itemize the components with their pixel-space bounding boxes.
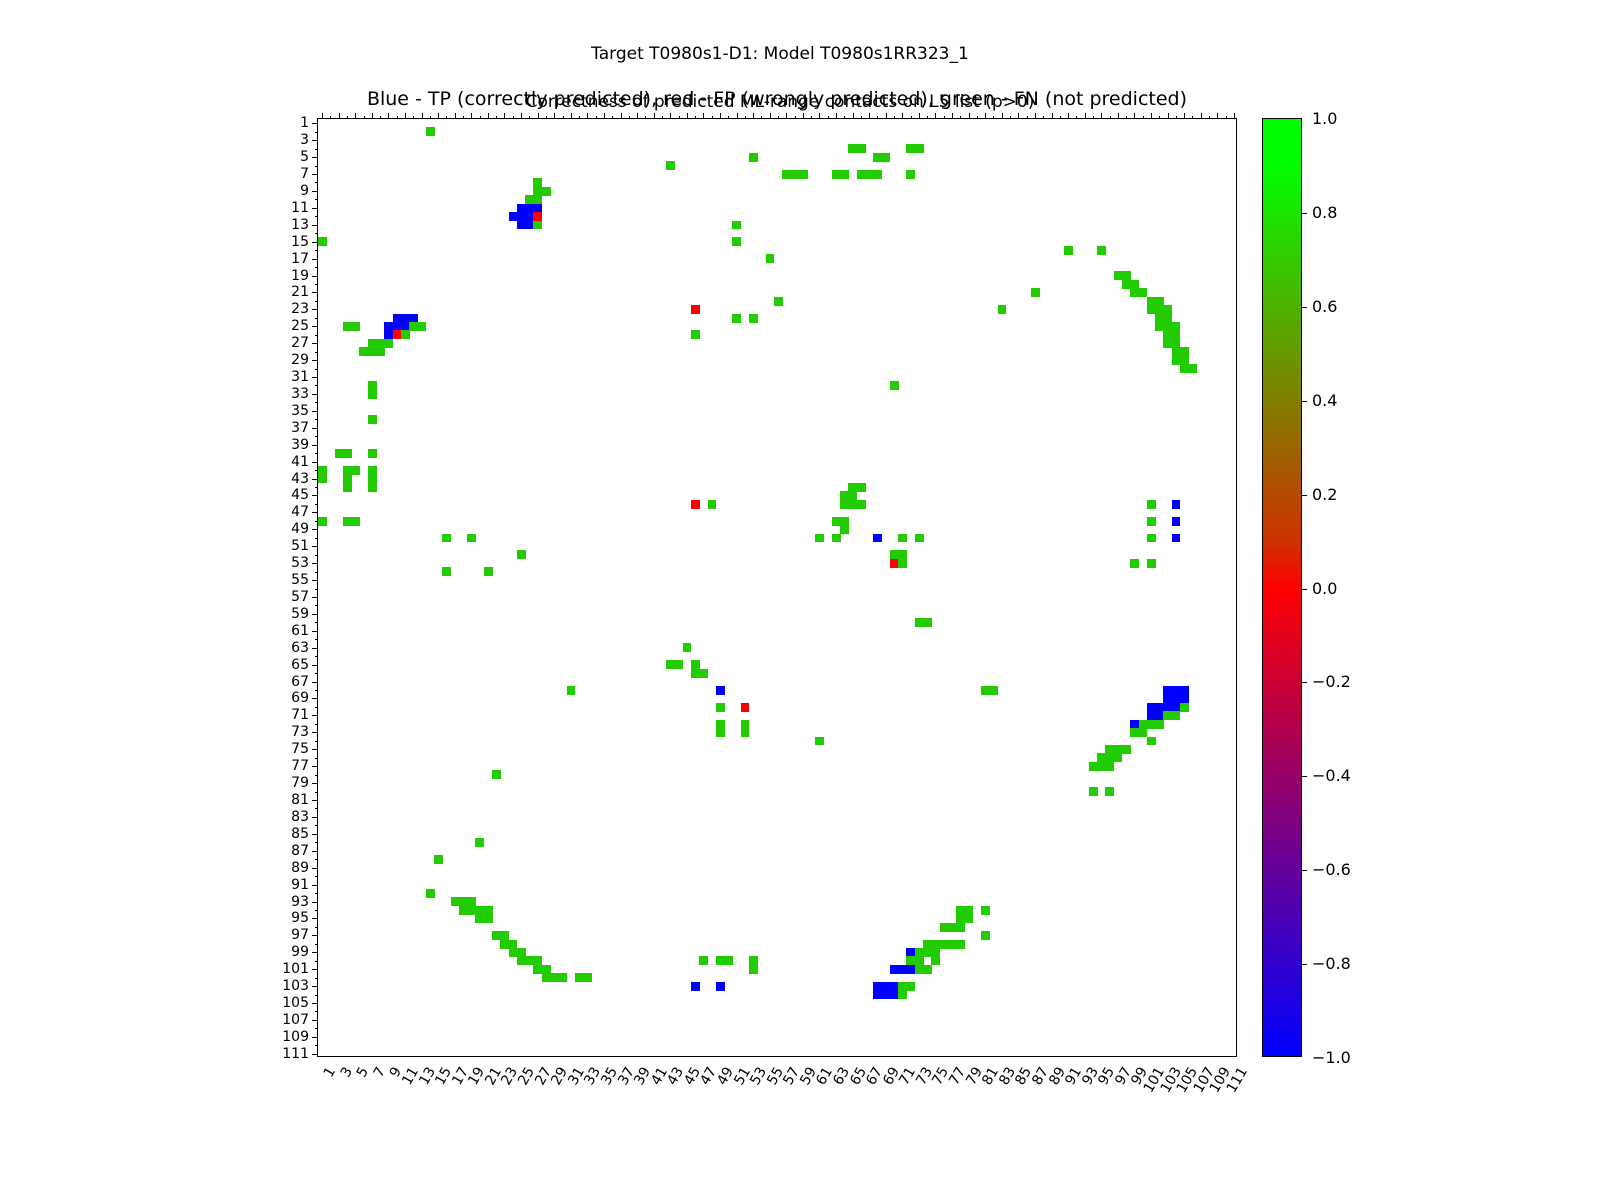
contact-cell: [931, 956, 940, 965]
x-tick: [347, 116, 348, 120]
x-tick: [960, 116, 961, 120]
contact-cell: [732, 221, 741, 230]
contact-cell: [923, 965, 932, 974]
colorbar-tick-label: −0.6: [1312, 862, 1351, 878]
x-tick: [596, 116, 597, 120]
y-tick: [312, 343, 318, 344]
y-tick-label: 73: [291, 725, 309, 739]
y-tick: [312, 309, 318, 310]
y-tick: [315, 352, 319, 353]
x-tick: [911, 116, 912, 120]
x-tick: [1217, 113, 1218, 119]
x-tick: [621, 113, 622, 119]
x-tick: [770, 113, 771, 119]
contact-cell: [567, 686, 576, 695]
x-tick: [1184, 113, 1185, 119]
contact-cell: [716, 728, 725, 737]
x-tick: [380, 116, 381, 120]
y-tick: [312, 766, 318, 767]
contact-cell: [368, 390, 377, 399]
contact-cell: [368, 449, 377, 458]
x-tick: [554, 113, 555, 119]
contact-cell: [1130, 559, 1139, 568]
contact-cell: [691, 982, 700, 991]
y-tick: [315, 622, 319, 623]
y-tick: [315, 876, 319, 877]
y-tick: [312, 529, 318, 530]
y-tick-label: 11: [291, 201, 309, 215]
y-tick: [312, 411, 318, 412]
contact-cell: [1031, 288, 1040, 297]
y-tick-label: 5: [300, 150, 309, 164]
contact-cell: [1114, 753, 1123, 762]
y-tick: [315, 402, 319, 403]
contact-cell: [1172, 517, 1181, 526]
x-tick: [330, 116, 331, 120]
y-tick-label: 23: [291, 302, 309, 316]
contact-cell: [368, 415, 377, 424]
x-tick: [1027, 116, 1028, 120]
contact-cell: [674, 660, 683, 669]
contact-cell: [318, 517, 327, 526]
contact-cell: [890, 381, 899, 390]
x-tick: [1201, 113, 1202, 119]
y-tick: [315, 792, 319, 793]
colorbar-tick: [1301, 307, 1307, 308]
x-tick: [446, 116, 447, 120]
y-tick: [315, 369, 319, 370]
y-tick-label: 103: [282, 979, 309, 993]
y-tick-label: 59: [291, 607, 309, 621]
x-tick: [720, 113, 721, 119]
y-tick: [315, 436, 319, 437]
colorbar-tick-label: 1.0: [1312, 111, 1337, 127]
y-tick: [315, 216, 319, 217]
y-tick: [315, 470, 319, 471]
contact-map-cells: [318, 119, 1236, 1056]
plot-legend-title: Blue - TP (correctly predicted), red - F…: [317, 88, 1237, 110]
y-tick-label: 33: [291, 387, 309, 401]
x-tick: [413, 116, 414, 120]
y-tick: [315, 1011, 319, 1012]
contact-cell: [1147, 559, 1156, 568]
y-tick: [315, 808, 319, 809]
y-tick: [315, 267, 319, 268]
x-tick: [795, 116, 796, 120]
contact-cell: [749, 965, 758, 974]
y-tick: [312, 512, 318, 513]
contact-cell: [724, 956, 733, 965]
x-tick: [679, 116, 680, 120]
y-tick-label: 37: [291, 421, 309, 435]
x-tick: [1101, 113, 1102, 119]
y-tick: [312, 495, 318, 496]
y-tick-label: 45: [291, 488, 309, 502]
contact-cell: [840, 525, 849, 534]
colorbar-tick-label: −1.0: [1312, 1050, 1351, 1066]
colorbar[interactable]: 1.00.80.60.40.20.0−0.2−0.4−0.6−0.8−1.0: [1262, 118, 1302, 1057]
contact-cell: [964, 914, 973, 923]
y-tick: [315, 978, 319, 979]
y-tick: [312, 546, 318, 547]
contact-cell: [915, 534, 924, 543]
x-tick: [1093, 116, 1094, 120]
contact-cell: [815, 737, 824, 746]
y-tick: [312, 935, 318, 936]
x-tick: [1043, 116, 1044, 120]
colorbar-tick-label: 0.6: [1312, 299, 1337, 315]
colorbar-tick: [1301, 401, 1307, 402]
y-tick: [315, 301, 319, 302]
x-tick: [339, 113, 340, 119]
x-tick: [869, 113, 870, 119]
y-tick: [312, 428, 318, 429]
contact-cell: [716, 703, 725, 712]
contact-cell: [417, 322, 426, 331]
x-tick: [364, 116, 365, 120]
x-tick: [819, 113, 820, 119]
colorbar-tick-label: −0.8: [1312, 956, 1351, 972]
y-tick-label: 51: [291, 539, 309, 553]
y-tick-label: 39: [291, 438, 309, 452]
contact-cell: [857, 144, 866, 153]
contact-cell: [1105, 762, 1114, 771]
y-tick: [315, 758, 319, 759]
y-tick: [312, 885, 318, 886]
contact-cell: [915, 144, 924, 153]
contact-cell: [484, 914, 493, 923]
contact-cell: [906, 982, 915, 991]
y-tick: [312, 580, 318, 581]
y-tick-label: 101: [282, 962, 309, 976]
x-tick: [670, 113, 671, 119]
contact-cell: [517, 550, 526, 559]
y-tick: [312, 715, 318, 716]
contact-cell: [815, 534, 824, 543]
x-tick: [853, 113, 854, 119]
x-tick: [645, 116, 646, 120]
contact-cell: [981, 906, 990, 915]
y-tick-label: 3: [300, 133, 309, 147]
x-tick: [886, 113, 887, 119]
y-tick: [315, 724, 319, 725]
contact-cell: [691, 305, 700, 314]
x-tick: [322, 113, 323, 119]
y-tick: [312, 394, 318, 395]
contact-map-plot[interactable]: 1357911131517192123252729313335373941434…: [317, 118, 1237, 1057]
contact-cell: [799, 170, 808, 179]
x-tick: [1068, 113, 1069, 119]
x-tick: [397, 116, 398, 120]
colorbar-tick: [1301, 213, 1307, 214]
x-tick: [952, 113, 953, 119]
y-tick: [312, 868, 318, 869]
y-tick: [315, 453, 319, 454]
colorbar-tick: [1301, 589, 1307, 590]
x-tick: [388, 113, 389, 119]
x-tick: [496, 116, 497, 120]
x-tick: [695, 116, 696, 120]
y-tick: [312, 225, 318, 226]
y-tick: [312, 732, 318, 733]
contact-cell: [475, 838, 484, 847]
contact-cell: [683, 643, 692, 652]
contact-cell: [699, 956, 708, 965]
x-tick: [571, 113, 572, 119]
contact-cell: [699, 669, 708, 678]
y-tick-label: 87: [291, 844, 309, 858]
x-tick: [811, 116, 812, 120]
y-tick: [315, 944, 319, 945]
y-tick-label: 75: [291, 742, 309, 756]
contact-cell: [1122, 745, 1131, 754]
y-tick: [312, 986, 318, 987]
x-tick: [944, 116, 945, 120]
y-tick: [315, 673, 319, 674]
x-tick: [1176, 116, 1177, 120]
y-tick-label: 63: [291, 641, 309, 655]
y-tick: [312, 698, 318, 699]
y-tick: [315, 825, 319, 826]
contact-cell: [1180, 703, 1189, 712]
contact-cell: [741, 728, 750, 737]
contact-cell: [873, 170, 882, 179]
y-tick-label: 77: [291, 759, 309, 773]
x-tick: [902, 113, 903, 119]
contact-cell: [583, 973, 592, 982]
x-tick: [471, 113, 472, 119]
x-tick-label: 7: [371, 1065, 388, 1080]
y-tick-label: 9: [300, 184, 309, 198]
x-tick: [662, 116, 663, 120]
y-tick: [312, 140, 318, 141]
contact-cell: [708, 500, 717, 509]
y-tick-label: 1: [300, 116, 309, 130]
y-tick-label: 21: [291, 285, 309, 299]
x-tick: [637, 113, 638, 119]
x-tick: [1126, 116, 1127, 120]
y-tick: [312, 783, 318, 784]
y-tick: [312, 614, 318, 615]
y-tick-label: 109: [282, 1030, 309, 1044]
contact-cell: [1172, 711, 1181, 720]
x-tick-label: 1: [322, 1065, 339, 1080]
x-tick-label: 3: [338, 1065, 355, 1080]
y-tick-label: 15: [291, 235, 309, 249]
contact-cell: [442, 567, 451, 576]
y-tick: [315, 893, 319, 894]
contact-cell: [898, 534, 907, 543]
contact-cell: [426, 127, 435, 136]
contact-cell: [318, 474, 327, 483]
y-tick: [312, 969, 318, 970]
contact-cell: [542, 187, 551, 196]
colorbar-tick-label: 0.4: [1312, 393, 1337, 409]
x-tick: [919, 113, 920, 119]
x-tick: [753, 113, 754, 119]
y-tick: [312, 123, 318, 124]
y-tick-label: 67: [291, 675, 309, 689]
x-tick: [1134, 113, 1135, 119]
y-tick: [312, 191, 318, 192]
y-tick: [312, 952, 318, 953]
contact-cell: [981, 931, 990, 940]
y-tick: [315, 335, 319, 336]
x-tick: [463, 116, 464, 120]
contact-cell: [741, 703, 750, 712]
y-tick-label: 13: [291, 218, 309, 232]
x-tick: [894, 116, 895, 120]
y-tick-label: 79: [291, 776, 309, 790]
y-tick: [312, 242, 318, 243]
y-tick-label: 43: [291, 472, 309, 486]
colorbar-tick-label: 0.2: [1312, 487, 1337, 503]
y-tick: [315, 166, 319, 167]
x-tick: [969, 113, 970, 119]
x-tick: [737, 113, 738, 119]
x-tick: [687, 113, 688, 119]
y-tick: [312, 749, 318, 750]
contact-cell: [691, 500, 700, 509]
contact-cell: [732, 237, 741, 246]
y-tick-label: 47: [291, 505, 309, 519]
contact-cell: [840, 170, 849, 179]
contact-cell: [351, 322, 360, 331]
y-tick: [315, 842, 319, 843]
x-tick: [563, 116, 564, 120]
y-tick-label: 35: [291, 404, 309, 418]
colorbar-tick-label: 0.0: [1312, 581, 1337, 597]
contact-cell: [492, 770, 501, 779]
x-tick: [786, 113, 787, 119]
x-tick: [993, 116, 994, 120]
contact-cell: [989, 686, 998, 695]
x-tick: [844, 116, 845, 120]
contact-cell: [368, 483, 377, 492]
x-tick: [703, 113, 704, 119]
x-tick: [745, 116, 746, 120]
x-tick: [521, 113, 522, 119]
y-tick: [315, 250, 319, 251]
x-tick: [1060, 116, 1061, 120]
contact-cell: [351, 517, 360, 526]
y-tick: [312, 377, 318, 378]
y-tick: [315, 284, 319, 285]
y-tick-label: 49: [291, 522, 309, 536]
y-tick: [312, 665, 318, 666]
x-tick: [861, 116, 862, 120]
x-tick: [538, 113, 539, 119]
y-tick: [315, 775, 319, 776]
x-tick-label: 5: [355, 1065, 372, 1080]
contact-cell: [1064, 246, 1073, 255]
y-tick-label: 91: [291, 878, 309, 892]
contact-cell: [484, 567, 493, 576]
y-tick: [312, 1003, 318, 1004]
y-tick: [312, 902, 318, 903]
x-tick: [629, 116, 630, 120]
x-tick: [1035, 113, 1036, 119]
contact-cell: [716, 686, 725, 695]
x-tick: [778, 116, 779, 120]
x-tick: [761, 116, 762, 120]
contact-cell: [434, 855, 443, 864]
x-tick: [828, 116, 829, 120]
contact-cell: [898, 559, 907, 568]
contact-cell: [1155, 720, 1164, 729]
y-tick: [312, 648, 318, 649]
contact-cell: [749, 153, 758, 162]
y-tick: [312, 157, 318, 158]
y-tick: [315, 149, 319, 150]
contact-cell: [716, 982, 725, 991]
x-tick: [1234, 113, 1235, 119]
contact-cell: [376, 347, 385, 356]
x-tick: [728, 116, 729, 120]
colorbar-tick: [1301, 682, 1307, 683]
x-tick: [1151, 113, 1152, 119]
x-tick: [803, 113, 804, 119]
y-tick: [315, 385, 319, 386]
contact-cell: [906, 170, 915, 179]
x-tick: [455, 113, 456, 119]
y-tick-label: 41: [291, 455, 309, 469]
contact-cell: [898, 990, 907, 999]
y-tick: [315, 910, 319, 911]
y-tick-label: 71: [291, 708, 309, 722]
x-tick: [712, 116, 713, 120]
contact-cell: [467, 534, 476, 543]
y-tick-label: 25: [291, 319, 309, 333]
contact-cell: [1105, 787, 1114, 796]
y-tick: [312, 326, 318, 327]
x-tick: [430, 116, 431, 120]
x-tick: [546, 116, 547, 120]
x-tick: [587, 113, 588, 119]
contact-cell: [533, 221, 542, 230]
y-tick-label: 81: [291, 793, 309, 807]
contact-cell: [318, 237, 327, 246]
x-tick: [488, 113, 489, 119]
y-tick: [315, 555, 319, 556]
contact-cell: [1172, 534, 1181, 543]
y-tick: [312, 208, 318, 209]
x-tick: [480, 116, 481, 120]
y-tick: [315, 741, 319, 742]
contact-cell: [749, 314, 758, 323]
x-tick: [355, 113, 356, 119]
contact-cell: [732, 314, 741, 323]
x-tick: [1052, 113, 1053, 119]
y-tick: [312, 259, 318, 260]
contact-cell: [351, 466, 360, 475]
x-tick: [1110, 116, 1111, 120]
y-tick-label: 27: [291, 336, 309, 350]
y-tick: [312, 851, 318, 852]
contact-cell: [1147, 500, 1156, 509]
x-tick: [977, 116, 978, 120]
y-tick: [315, 927, 319, 928]
y-tick-label: 107: [282, 1013, 309, 1027]
contact-cell: [956, 923, 965, 932]
x-tick: [985, 113, 986, 119]
contact-cell: [766, 254, 775, 263]
y-tick-label: 53: [291, 556, 309, 570]
x-tick: [927, 116, 928, 120]
x-tick: [1168, 113, 1169, 119]
y-tick: [312, 1037, 318, 1038]
x-tick: [1192, 116, 1193, 120]
